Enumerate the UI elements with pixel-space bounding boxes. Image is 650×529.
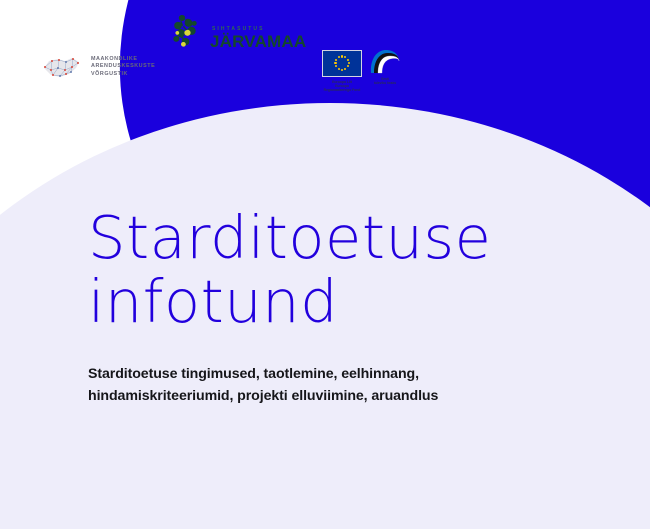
presentation-slide: MAAKONDLIKE ARENDUSKESKUSTE VÕRGUSTIK: [0, 0, 650, 529]
page-title: Starditoetuse infotund: [88, 206, 608, 334]
european-union-flag-logo: Euroopa Liit Euroopa Regionaalarengu Fon…: [322, 50, 362, 93]
jarvamaa-logo-text: SIHTASUTUS JÄRVAMAA: [210, 10, 306, 51]
jarvamaa-emblem-icon: [168, 11, 208, 51]
eu-logo-caption: Euroopa Liit Euroopa Regionaalarengu Fon…: [324, 80, 361, 93]
sa-jarvamaa-logo: SIHTASUTUS JÄRVAMAA: [168, 10, 306, 51]
logo-band: MAAKONDLIKE ARENDUSKESKUSTE VÕRGUSTIK: [0, 0, 650, 105]
estonia-logo-caption: Eesti tuleviku heaks: [374, 77, 396, 85]
eu-flag-icon: [322, 50, 362, 77]
estonian-flag-swoosh-icon: [368, 48, 402, 75]
page-subtitle: Starditoetuse tingimused, taotlemine, ee…: [88, 363, 558, 407]
eesti-tuleviku-heaks-logo: Eesti tuleviku heaks: [368, 48, 402, 85]
maakondlike-arenduskeskuste-vorgustik-logo: MAAKONDLIKE ARENDUSKESKUSTE VÕRGUSTIK: [38, 52, 155, 82]
mak-logo-text: MAAKONDLIKE ARENDUSKESKUSTE VÕRGUSTIK: [91, 56, 155, 79]
network-map-icon: [38, 52, 84, 82]
jarvamaa-logo-title: JÄRVAMAA: [210, 33, 306, 50]
